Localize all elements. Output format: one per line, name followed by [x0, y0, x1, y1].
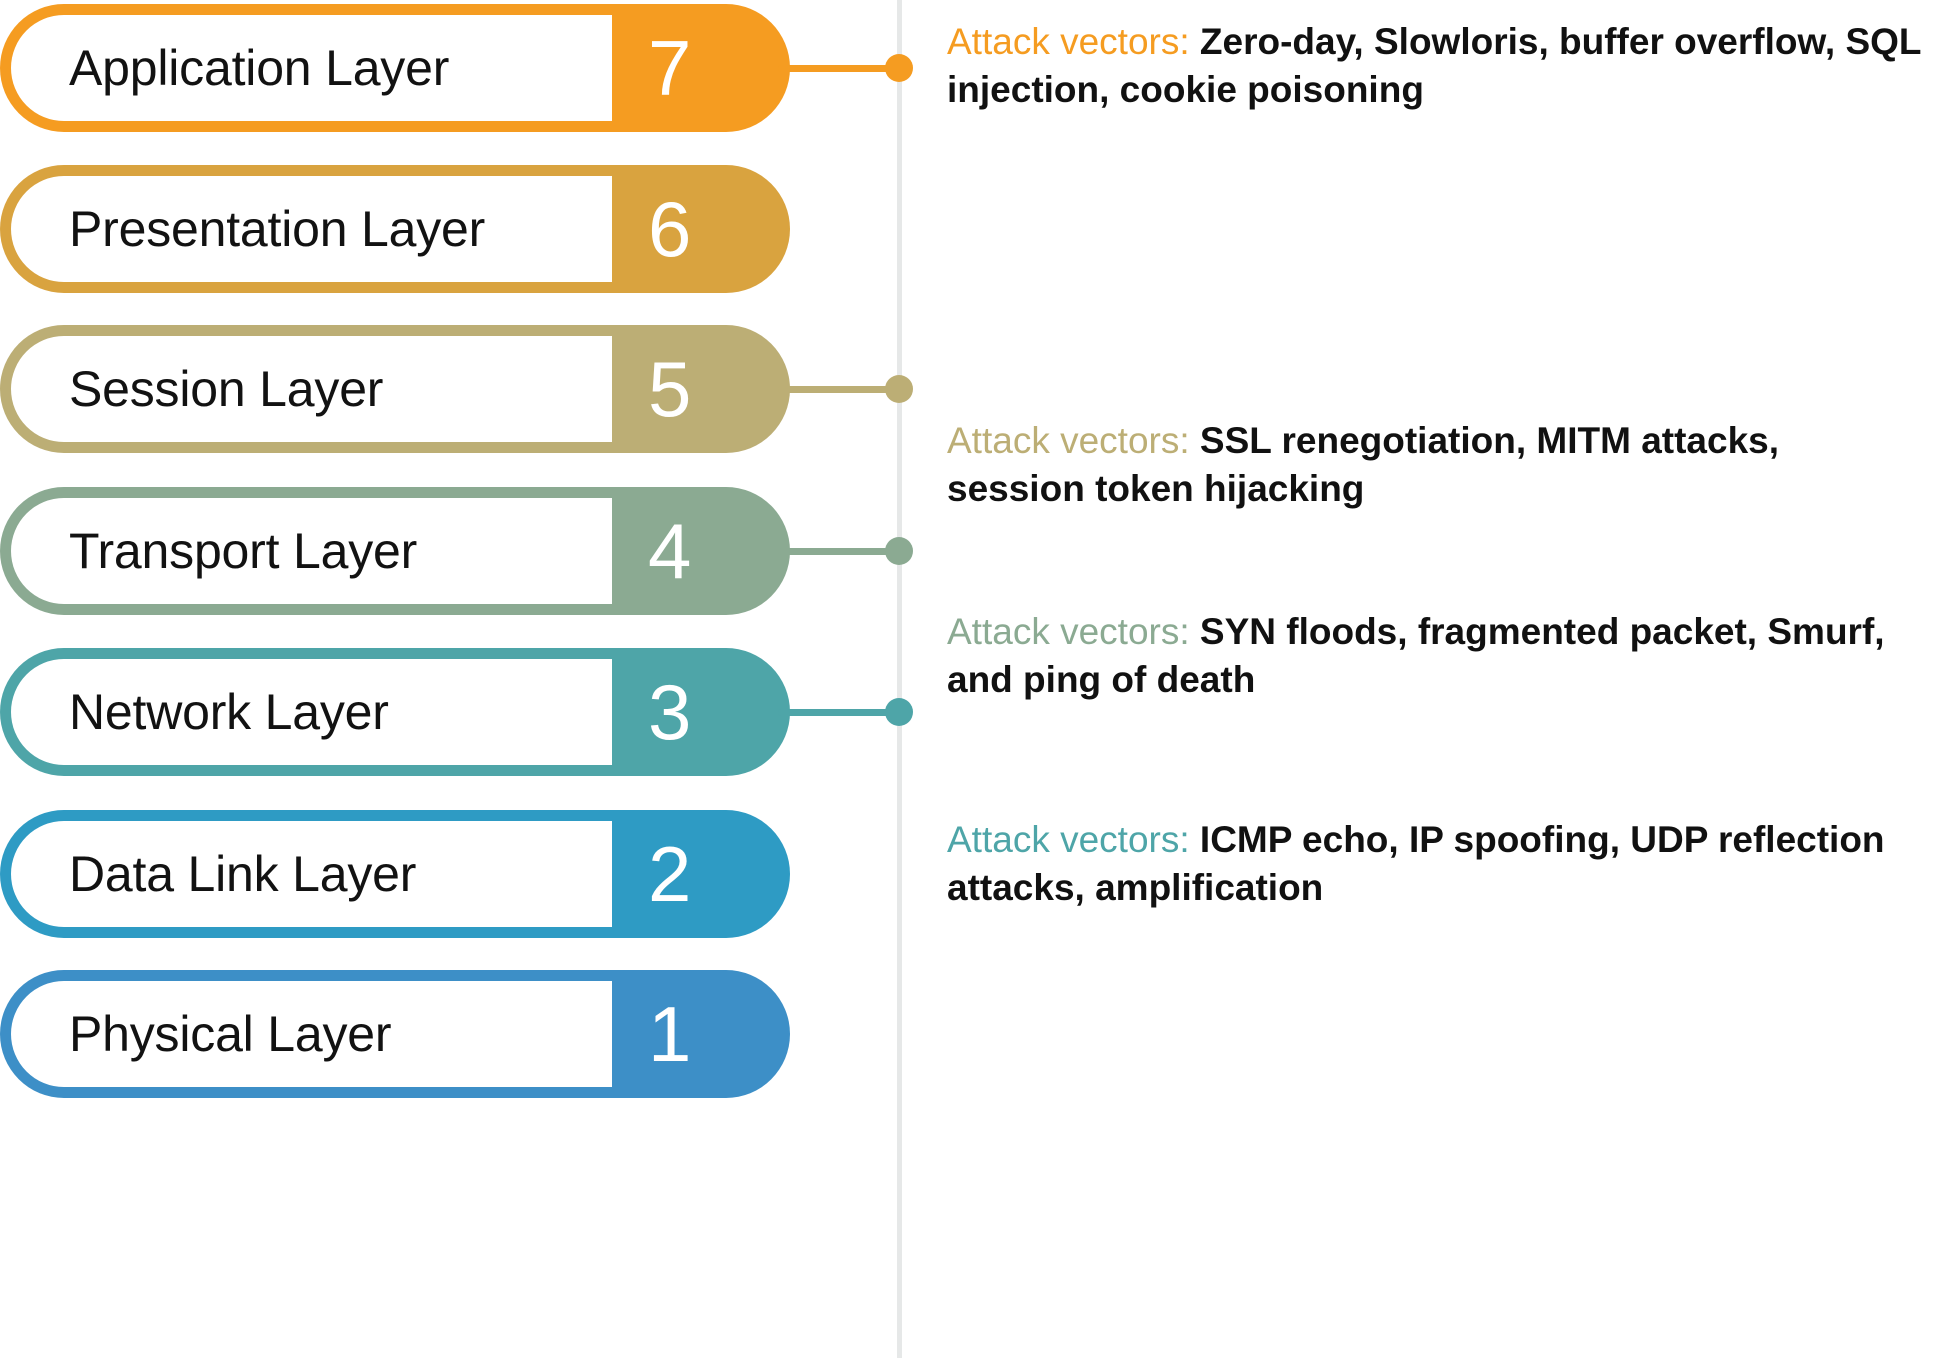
connector-dot-4 — [885, 537, 913, 565]
annotation-layer-3: Attack vectors: ICMP echo, IP spoofing, … — [947, 816, 1927, 912]
vertical-divider — [897, 0, 902, 1358]
annotation-prefix-7: Attack vectors: — [947, 21, 1190, 62]
layer-row-2[interactable]: Data Link Layer2 — [0, 810, 790, 938]
annotation-layer-5: Attack vectors: SSL renegotiation, MITM … — [947, 417, 1927, 513]
layer-name-3: Network Layer — [11, 683, 389, 741]
connector-line-7 — [778, 65, 899, 72]
layer-pill-7[interactable]: Application Layer7 — [0, 4, 790, 132]
layer-name-5: Session Layer — [11, 360, 383, 418]
layer-number-6: 6 — [648, 165, 691, 293]
layer-name-7: Application Layer — [11, 39, 449, 97]
layer-row-5[interactable]: Session Layer5 — [0, 325, 790, 453]
layer-number-2: 2 — [648, 810, 691, 938]
layer-name-4: Transport Layer — [11, 522, 417, 580]
connector-dot-5 — [885, 375, 913, 403]
annotation-prefix-3: Attack vectors: — [947, 819, 1190, 860]
layer-label-panel-2: Data Link Layer — [11, 821, 612, 927]
annotation-layer-7: Attack vectors: Zero-day, Slowloris, buf… — [947, 18, 1927, 114]
layer-pill-5[interactable]: Session Layer5 — [0, 325, 790, 453]
layer-number-5: 5 — [648, 325, 691, 453]
layer-pill-4[interactable]: Transport Layer4 — [0, 487, 790, 615]
connector-line-3 — [778, 709, 899, 716]
layer-name-2: Data Link Layer — [11, 845, 416, 903]
layer-pill-3[interactable]: Network Layer3 — [0, 648, 790, 776]
osi-layer-diagram: Application Layer7Presentation Layer6Ses… — [0, 0, 1939, 1358]
layer-label-panel-5: Session Layer — [11, 336, 612, 442]
layer-pill-1[interactable]: Physical Layer1 — [0, 970, 790, 1098]
connector-line-5 — [778, 386, 899, 393]
connector-dot-7 — [885, 54, 913, 82]
layer-row-7[interactable]: Application Layer7 — [0, 4, 790, 132]
layer-label-panel-4: Transport Layer — [11, 498, 612, 604]
layer-row-4[interactable]: Transport Layer4 — [0, 487, 790, 615]
layer-label-panel-3: Network Layer — [11, 659, 612, 765]
layer-label-panel-1: Physical Layer — [11, 981, 612, 1087]
layer-number-1: 1 — [648, 970, 691, 1098]
layer-name-1: Physical Layer — [11, 1005, 391, 1063]
layer-number-7: 7 — [648, 4, 691, 132]
connector-dot-3 — [885, 698, 913, 726]
layer-row-6[interactable]: Presentation Layer6 — [0, 165, 790, 293]
layer-label-panel-6: Presentation Layer — [11, 176, 612, 282]
annotation-layer-4: Attack vectors: SYN floods, fragmented p… — [947, 608, 1927, 704]
layer-name-6: Presentation Layer — [11, 200, 485, 258]
layer-label-panel-7: Application Layer — [11, 15, 612, 121]
annotation-prefix-4: Attack vectors: — [947, 611, 1190, 652]
layer-number-4: 4 — [648, 487, 691, 615]
layer-pill-2[interactable]: Data Link Layer2 — [0, 810, 790, 938]
layer-row-3[interactable]: Network Layer3 — [0, 648, 790, 776]
annotation-prefix-5: Attack vectors: — [947, 420, 1190, 461]
connector-line-4 — [778, 548, 899, 555]
layer-pill-6[interactable]: Presentation Layer6 — [0, 165, 790, 293]
layer-number-3: 3 — [648, 648, 691, 776]
layer-row-1[interactable]: Physical Layer1 — [0, 970, 790, 1098]
